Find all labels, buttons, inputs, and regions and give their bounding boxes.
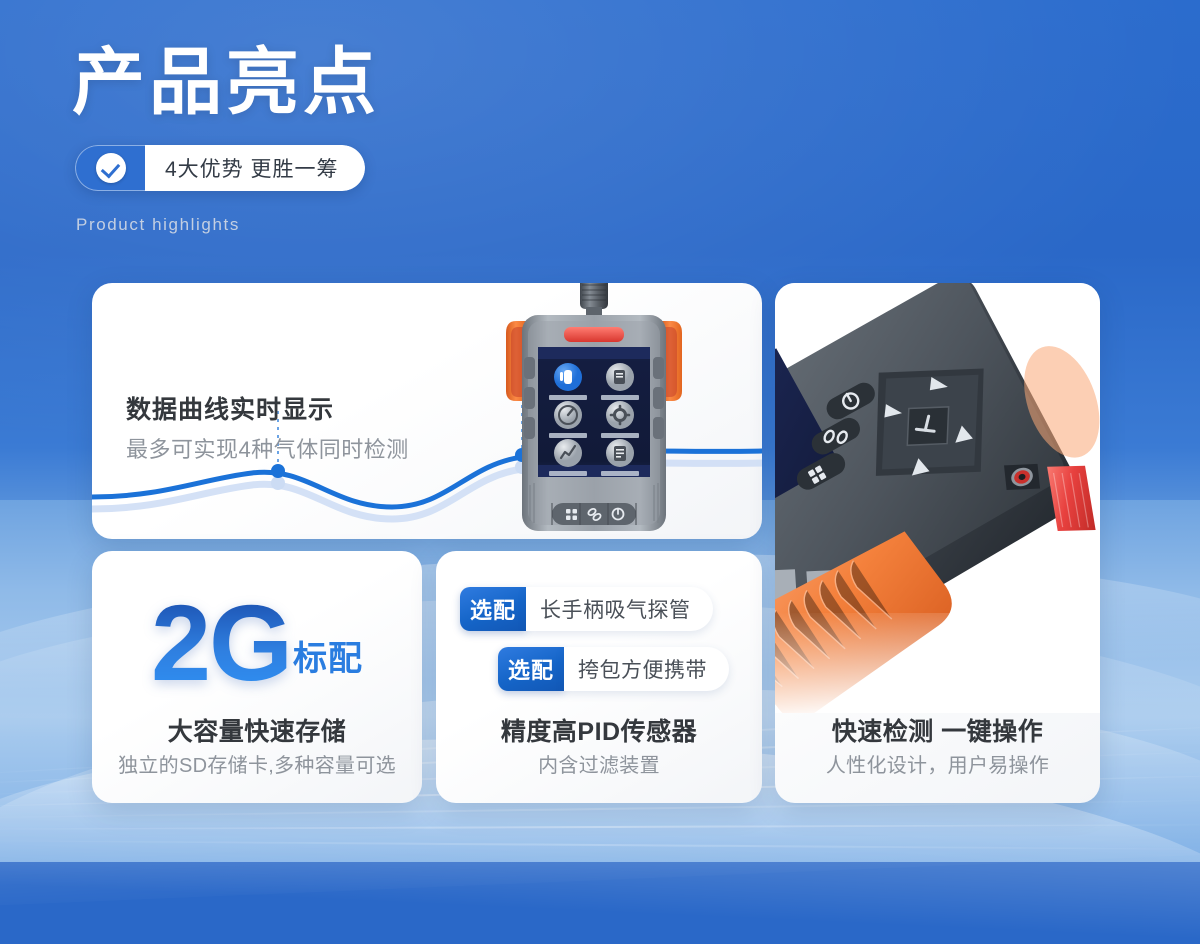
option-tag: 选配	[498, 647, 564, 691]
check-circle-icon	[96, 153, 126, 183]
option-row: 选配 挎包方便携带	[498, 647, 729, 691]
page-title: 产品亮点	[72, 44, 380, 121]
storage-hero-suffix: 标配	[293, 631, 363, 680]
badge-icon-area	[75, 145, 145, 191]
card-pid-text: 精度高PID传感器 内含过滤装置	[436, 717, 762, 779]
card-data-curve-text: 数据曲线实时显示 最多可实现4种气体同时检测	[126, 390, 409, 464]
card-title: 数据曲线实时显示	[126, 390, 409, 426]
card-title: 精度高PID传感器	[436, 717, 762, 747]
storage-hero-number: 2G	[151, 593, 291, 692]
card-one-key-operation: 快速检测 一键操作 人性化设计，用户易操作	[775, 283, 1100, 803]
card-one-key-text: 快速检测 一键操作 人性化设计，用户易操作	[775, 717, 1100, 779]
card-subtitle: 最多可实现4种气体同时检测	[126, 432, 409, 464]
card-storage-capacity: 2G 标配 大容量快速存储 独立的SD存储卡,多种容量可选	[92, 551, 422, 803]
device-keypad-closeup	[775, 283, 1100, 713]
option-label: 长手柄吸气探管	[526, 587, 713, 631]
card-title: 大容量快速存储	[92, 717, 422, 747]
card-subtitle: 独立的SD存储卡,多种容量可选	[92, 753, 422, 779]
option-label: 挎包方便携带	[564, 647, 729, 691]
card-subtitle: 内含过滤装置	[436, 753, 762, 779]
card-data-curve: 数据曲线实时显示 最多可实现4种气体同时检测	[92, 283, 762, 539]
card-pid-sensor: 选配 长手柄吸气探管 选配 挎包方便携带 精度高PID传感器 内含过滤装置	[436, 551, 762, 803]
highlight-card-grid: 数据曲线实时显示 最多可实现4种气体同时检测	[0, 0, 1200, 862]
option-tag: 选配	[460, 587, 526, 631]
highlight-badge: 4大优势 更胜一筹	[75, 145, 365, 191]
card-title: 快速检测 一键操作	[775, 717, 1100, 747]
device-closeup-photo	[775, 283, 1100, 713]
page-subtitle-en: Product highlights	[76, 215, 240, 235]
card-subtitle: 人性化设计，用户易操作	[775, 753, 1100, 779]
gas-detector-device	[494, 283, 694, 539]
card-storage-text: 大容量快速存储 独立的SD存储卡,多种容量可选	[92, 717, 422, 779]
badge-label: 4大优势 更胜一筹	[145, 145, 365, 191]
option-row: 选配 长手柄吸气探管	[460, 587, 713, 631]
storage-hero: 2G 标配	[92, 593, 422, 692]
